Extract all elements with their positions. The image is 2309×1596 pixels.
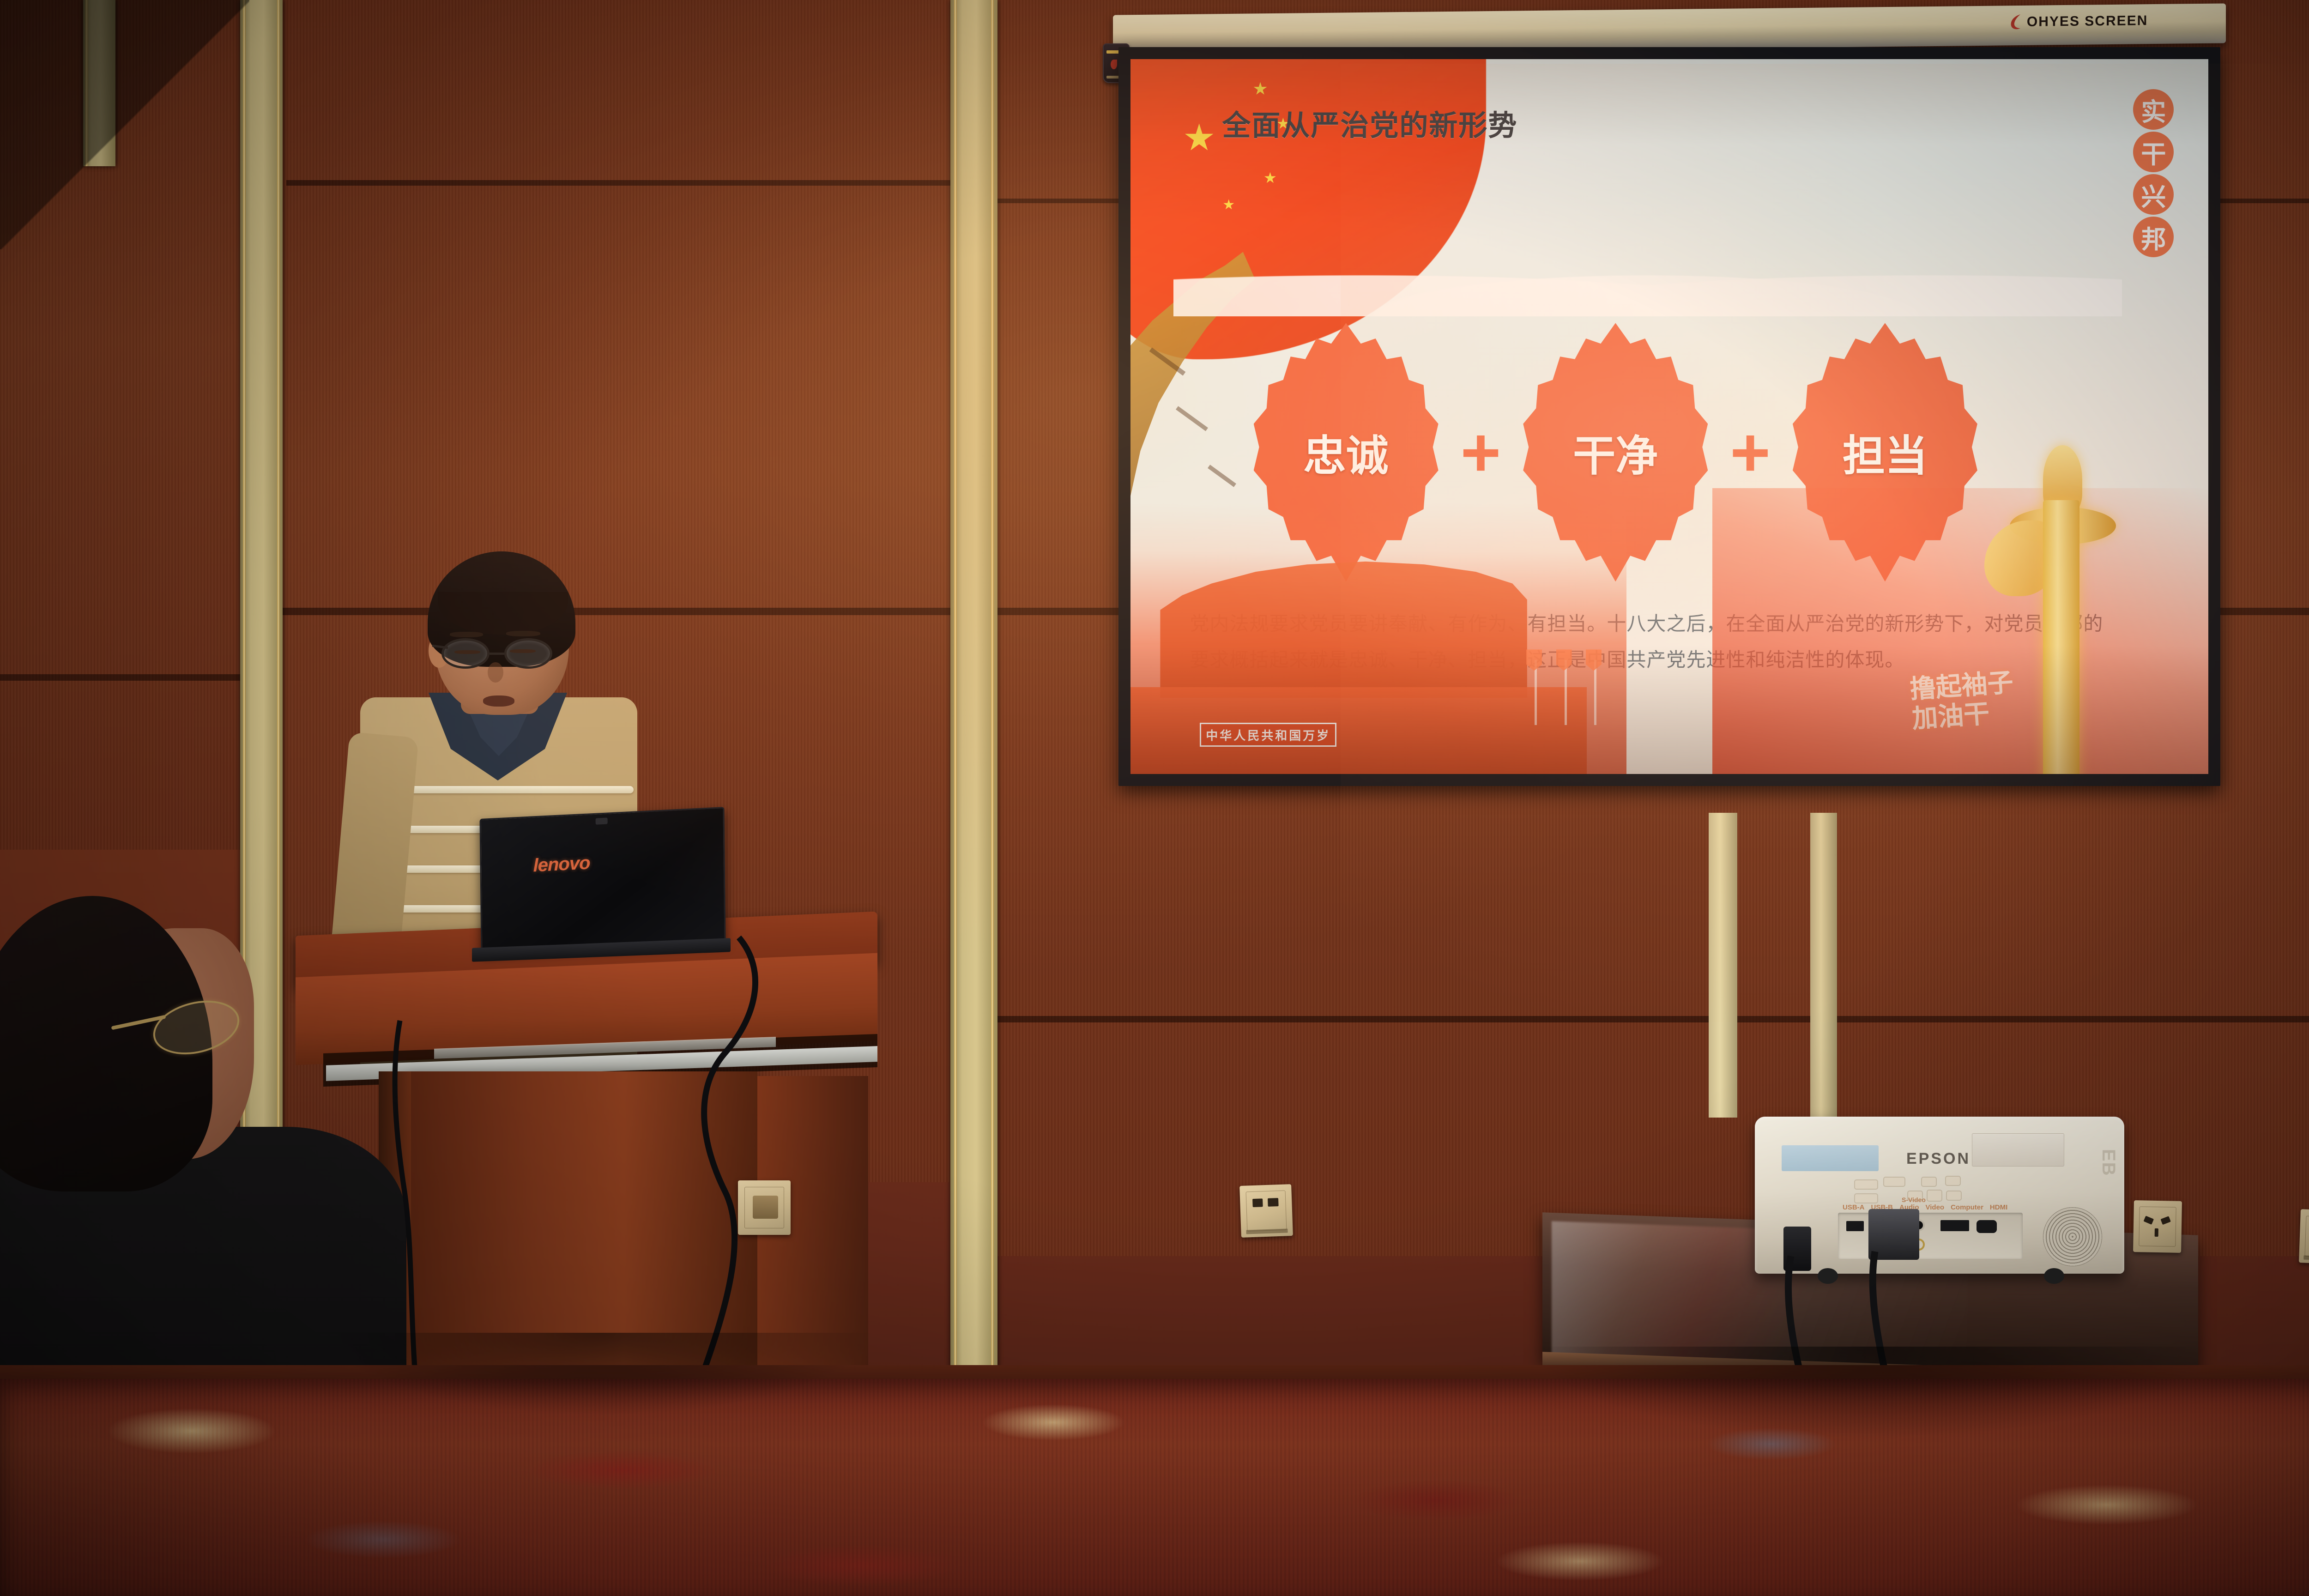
plus-icon-1: + [1461,417,1501,487]
projector-menu-button[interactable] [1854,1193,1878,1203]
slide-canvas: 全面从严治党的新形势 忠诚 + 干净 + 担当 [1130,59,2208,774]
projector-esc-button[interactable] [1945,1176,1961,1186]
projector-blue-sticker [1782,1145,1879,1171]
projector-power-button[interactable] [1854,1179,1878,1190]
screen-post-left [1709,813,1737,1118]
cloud-wave-divider [1173,245,2122,316]
tiananmen-wall [1130,687,1587,774]
presenter-eye-left [454,650,480,654]
presenter-mouth [483,695,514,707]
screen-post-right [1810,813,1837,1118]
badge-dandang-label: 担当 [1843,422,1928,483]
screen-surface: 全面从严治党的新形势 忠诚 + 干净 + 担当 [1130,59,2208,774]
port-label-s-video: S-Video [1902,1196,1926,1203]
slide-title: 全面从严治党的新形势 [1222,102,1517,144]
table-floor-shadow [1524,1347,2217,1439]
plus-icon-2: + [1730,417,1771,487]
badge-zhongcheng-label: 忠诚 [1304,422,1389,483]
port-label-computer: Computer [1951,1203,1983,1211]
projector-nav-ok-button[interactable] [1927,1190,1942,1202]
screen-brand-label: OHYES SCREEN [2027,13,2148,30]
computer-vga-port[interactable] [1940,1220,1969,1231]
vertical-seal-column: 实 干 兴 邦 [2133,89,2174,257]
presenter-nose [488,662,503,683]
screen-frame: 全面从严治党的新形势 忠诚 + 干净 + 担当 [1118,47,2220,786]
tiananmen-motif: 中华人民共和国万岁 [1130,502,1626,774]
podium-floor-shadow [323,1333,877,1416]
socket-slot-ground [2154,1228,2158,1237]
calligraphy-text: 撸起袖子 加油干 [1909,668,2016,735]
projector-nav-right-button[interactable] [1946,1191,1962,1201]
tiananmen-roof [1160,551,1527,698]
screen-brand: OHYES SCREEN [2010,13,2148,30]
jack-port-2 [1268,1198,1279,1207]
mini-flag-3 [1586,649,1602,671]
projector-port-labels: USB-A USB-B Audio Video Computer HDMI [1843,1203,2007,1211]
projection-screen-unit: OHYES SCREEN [1113,9,2226,813]
power-outlet-right[interactable] [2133,1200,2182,1253]
seal-bang: 邦 [2133,217,2174,257]
panel-seam-5 [286,180,961,186]
huabiao-shaft [2043,500,2079,774]
tiananmen-banner: 中华人民共和国万岁 [1200,723,1336,747]
projector-source-button[interactable] [1883,1177,1905,1187]
laptop-lid: lenovo [479,807,725,953]
laptop-webcam-icon [596,817,608,824]
glasses-lens-right [504,638,552,669]
presenter-brow-left [450,632,483,637]
usb-a-port[interactable] [1846,1221,1864,1231]
panel-seam-3 [993,1016,2309,1022]
glasses-bridge [490,653,504,655]
data-jack-right[interactable] [2299,1209,2309,1264]
outlet-plug [753,1196,778,1219]
projector-spec-label [1972,1133,2064,1167]
panel-seam-4 [0,674,240,681]
conference-room-scene: OHYES SCREEN [0,0,2309,1596]
projector-brand-label: EPSON [1906,1150,1971,1168]
ceiling-shadow [0,0,249,249]
mini-flag-1 [1526,649,1542,671]
hdmi-port[interactable] [1977,1220,1997,1233]
seal-xing: 兴 [2133,174,2174,215]
jack-port-1 [1252,1198,1263,1207]
presenter-brow-right [506,631,540,636]
seal-gan: 干 [2133,132,2174,172]
data-jack-left[interactable] [1239,1184,1293,1238]
mini-flag-2 [1556,649,1572,671]
port-label-usb-a: USB-A [1843,1203,1865,1211]
power-outlet-podium[interactable] [738,1180,791,1235]
seal-shi: 实 [2133,89,2174,130]
projector-model-label: EB [2098,1149,2119,1177]
pilaster-mid [950,0,997,1385]
badge-ganjing-label: 干净 [1573,422,1658,483]
port-label-hdmi: HDMI [1990,1203,2007,1211]
ohyes-logo-icon [2010,14,2022,30]
presenter-eye-right [510,649,536,653]
projector-nav-up-button[interactable] [1921,1177,1937,1187]
port-label-video: Video [1926,1203,1945,1211]
laptop-brand-label: lenovo [533,852,590,876]
